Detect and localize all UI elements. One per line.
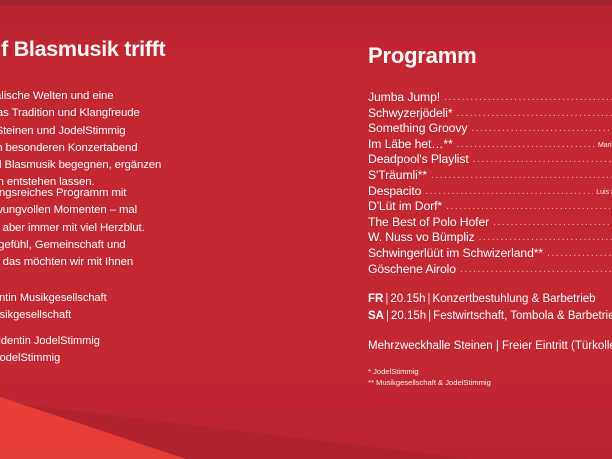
program-row: Göschene Airolo.........................… <box>368 262 612 278</box>
program-title: S'Träumli** <box>368 168 427 182</box>
program-row: W. Nuss vo Bümpliz......................… <box>368 230 612 246</box>
credit-row: ur Föhn|Präsidentin JodelStimmig <box>0 333 258 350</box>
program-title: Schwingerlüüt im Schwizerland** <box>368 246 543 260</box>
left-column: deln auf Blasmusik trifft e, zwei musika… <box>0 0 258 459</box>
credit-role: Präsidentin JodelStimmig <box>0 335 100 347</box>
program-title: Despacito <box>368 184 421 198</box>
program-row: Im Läbe het…**..........................… <box>368 137 612 153</box>
program-row: D'Lüt im Dorf*..........................… <box>368 199 612 215</box>
footnote-line: ** Musikgesellschaft & JodelStimmig <box>368 377 612 388</box>
program-row: S'Träumli**.............................… <box>368 168 612 184</box>
intro1-line: ein Konzert, das Tradition und Klangfreu… <box>0 105 258 122</box>
program-title: Something Groovy <box>368 121 467 135</box>
schedule-block: FR|20.15h|Konzertbestuhlung & Barbetrieb… <box>368 291 612 325</box>
schedule-description: Festwirtschaft, Tombola & Barbetrieb <box>433 310 612 322</box>
program-credit: Luis Fonsi ft. Daddy Ya <box>596 189 612 196</box>
intro1-line: rzlich zu einem besonderen Konzertabend <box>0 140 258 157</box>
credit-role: Dirigentin JodelStimmig <box>0 352 60 364</box>
program-title: Jumba Jump! <box>368 90 440 104</box>
program-title: D'Lüt im Dorf* <box>368 199 442 213</box>
programm-title: Programm <box>368 43 476 69</box>
intro1-line: e, zwei musikalische Welten und eine <box>0 88 258 105</box>
intro2-line: e – und genau das möchten wir mit Ihnen <box>0 254 258 271</box>
right-column: Programm Jumba Jump!....................… <box>368 0 612 459</box>
schedule-time: 20.15h <box>390 293 425 305</box>
poster-canvas: deln auf Blasmusik trifft e, zwei musika… <box>0 0 612 459</box>
dot-leader: ........................................… <box>471 123 612 134</box>
credit-row: ld|Dirigentin JodelStimmig <box>0 350 258 367</box>
credits-jodelstimmig: ur Föhn|Präsidentin JodelStimmig ld|Diri… <box>0 333 258 367</box>
program-row: Deadpool's Playlist.....................… <box>368 152 612 168</box>
schedule-time: 20.15h <box>391 310 426 322</box>
program-title: The Best of Polo Hofer <box>368 215 489 229</box>
dot-leader: ........................................… <box>425 186 593 197</box>
program-list: Jumba Jump!.............................… <box>368 90 612 277</box>
program-row: Something Groovy........................… <box>368 121 612 137</box>
intro1-line: delgesang und Blasmusik begegnen, ergänz… <box>0 157 258 174</box>
dot-leader: ........................................… <box>457 108 612 119</box>
intro1-line: kgesellschaft Steinen und JodelStimmig <box>0 123 258 140</box>
intro2-line: überraschend, aber immer mit viel Herzbl… <box>0 220 258 237</box>
schedule-day: FR <box>368 293 383 305</box>
dot-leader: ........................................… <box>446 201 612 212</box>
schedule-description: Konzertbestuhlung & Barbetrieb <box>433 293 596 305</box>
dot-leader: ........................................… <box>460 264 612 275</box>
credit-row: |Dirigentin Musikgesellschaft <box>0 307 258 324</box>
schedule-separator: | <box>384 310 391 322</box>
venue-line: Mehrzweckhalle Steinen | Freier Eintritt… <box>368 340 612 352</box>
dot-leader: ........................................… <box>431 170 612 181</box>
schedule-separator: | <box>426 310 433 322</box>
dot-leader: ........................................… <box>547 248 612 259</box>
dot-leader: ........................................… <box>473 154 612 165</box>
schedule-separator: | <box>426 293 433 305</box>
dot-leader: ........................................… <box>479 232 612 243</box>
dot-leader: ........................................… <box>444 92 612 103</box>
footnote-line: * JodelStimmig <box>368 366 612 377</box>
program-row: Jumba Jump!.............................… <box>368 90 612 106</box>
credit-role: Dirigentin Musikgesellschaft <box>0 309 71 321</box>
credits-musikgesellschaft: chart|Präsidentin Musikgesellschaft |Dir… <box>0 290 258 324</box>
headline: deln auf Blasmusik trifft <box>0 38 258 62</box>
dot-leader: ........................................… <box>493 217 612 228</box>
credit-role: Präsidentin Musikgesellschaft <box>0 292 107 304</box>
program-row: Schwyzerjödeli*.........................… <box>368 106 612 122</box>
program-title: Schwyzerjödeli* <box>368 106 453 120</box>
program-title: Göschene Airolo <box>368 262 456 276</box>
program-title: Deadpool's Playlist <box>368 152 469 166</box>
program-title: Im Läbe het…** <box>368 137 453 151</box>
program-row: Schwingerlüüt im Schwizerland**.........… <box>368 246 612 262</box>
intro-paragraph-2: ein abwechslungsreiches Programm mit che… <box>0 185 258 271</box>
schedule-row: SA|20.15h|Festwirtschaft, Tombola & Barb… <box>368 308 612 325</box>
schedule-row: FR|20.15h|Konzertbestuhlung & Barbetrieb <box>368 291 612 308</box>
footnotes: * JodelStimmig ** Musikgesellschaft & Jo… <box>368 366 612 388</box>
intro2-line: ein abwechslungsreiches Programm mit <box>0 185 258 202</box>
program-credit: Marie-Theres von Gub <box>598 142 612 149</box>
program-title: W. Nuss vo Bümpliz <box>368 230 475 244</box>
schedule-separator: | <box>383 293 390 305</box>
intro2-line: eht für Heimatgefühl, Gemeinschaft und <box>0 237 258 254</box>
intro2-line: chen und schwungvollen Momenten – mal <box>0 202 258 219</box>
schedule-day: SA <box>368 310 384 322</box>
intro-paragraph-1: e, zwei musikalische Welten und eine ein… <box>0 88 258 192</box>
credit-row: chart|Präsidentin Musikgesellschaft <box>0 290 258 307</box>
program-row: Despacito...............................… <box>368 184 612 200</box>
dot-leader: ........................................… <box>457 139 595 150</box>
program-row: The Best of Polo Hofer..................… <box>368 215 612 231</box>
